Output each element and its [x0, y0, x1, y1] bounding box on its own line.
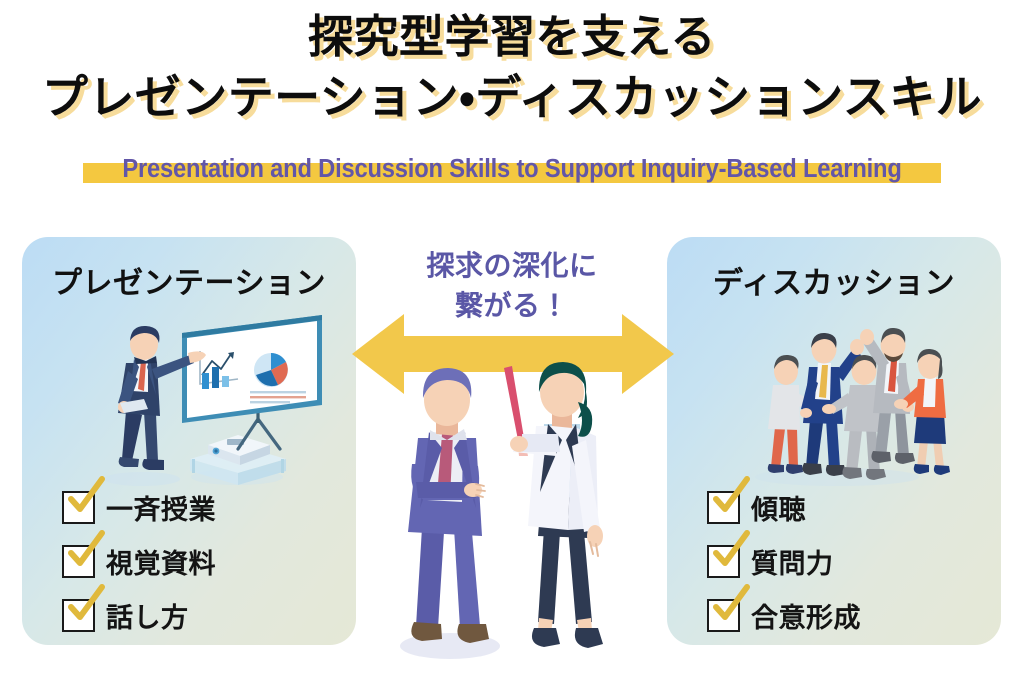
panel-presentation: プレゼンテーション [22, 237, 356, 645]
checkbox[interactable] [62, 545, 95, 578]
subtitle-text: Presentation and Discussion Skills to Su… [122, 155, 901, 184]
check-item-label: 合意形成 [751, 596, 861, 635]
check-item[interactable]: 質問力 [707, 539, 987, 584]
page-title-line-2: プレゼンテーション・ディスカッションスキル [0, 71, 1024, 123]
checkbox[interactable] [707, 545, 740, 578]
checkbox[interactable] [707, 599, 740, 632]
discussion-checklist: 傾聴 質問力 合意形成 [707, 485, 987, 645]
check-item[interactable]: 合意形成 [707, 593, 987, 638]
check-item-label: 話し方 [106, 596, 189, 635]
check-item[interactable]: 話し方 [62, 593, 342, 638]
subtitle-highlight-band: Presentation and Discussion Skills to Su… [83, 155, 941, 184]
check-item[interactable]: 傾聴 [707, 485, 987, 530]
page-title-line-1: 探究型学習を支える [0, 12, 1024, 62]
center-figures-illustration [372, 360, 662, 660]
panel-discussion: ディスカッション [667, 237, 1001, 645]
check-item[interactable]: 一斉授業 [62, 485, 342, 530]
checkbox[interactable] [62, 491, 95, 524]
subtitle-container: Presentation and Discussion Skills to Su… [0, 148, 1024, 190]
discussion-illustration [667, 299, 1001, 491]
presentation-checklist: 一斉授業 視覚資料 話し方 [62, 485, 342, 645]
check-item-label: 視覚資料 [106, 542, 216, 581]
presentation-illustration [22, 299, 356, 491]
panel-presentation-title: プレゼンテーション [22, 258, 356, 302]
check-icon [708, 530, 752, 574]
check-icon [63, 584, 107, 628]
check-item-label: 傾聴 [751, 488, 806, 527]
check-item-label: 質問力 [751, 542, 834, 581]
check-item-label: 一斉授業 [106, 488, 216, 527]
check-item[interactable]: 視覚資料 [62, 539, 342, 584]
panel-discussion-title: ディスカッション [667, 258, 1001, 302]
checkbox[interactable] [62, 599, 95, 632]
header: 探究型学習を支える プレゼンテーション・ディスカッションスキル Presenta… [0, 0, 1024, 200]
check-icon [63, 530, 107, 574]
checkbox[interactable] [707, 491, 740, 524]
check-icon [708, 584, 752, 628]
center-caption-line-1: 探求の深化に [362, 246, 662, 286]
